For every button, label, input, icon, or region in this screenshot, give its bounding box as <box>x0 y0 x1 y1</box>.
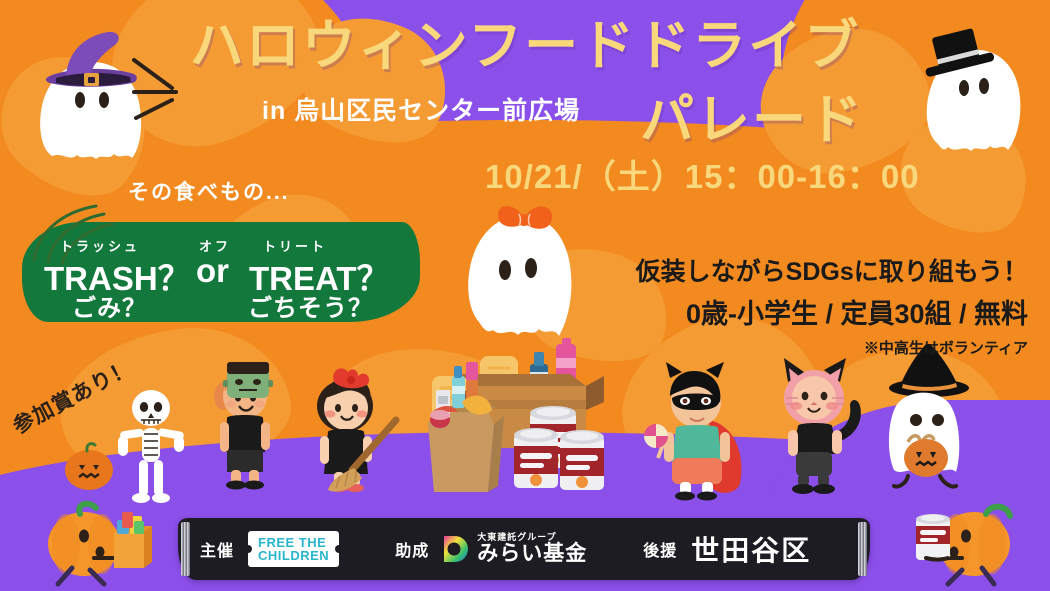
poster-title-line1: ハロウィンフードドライブ <box>0 18 1050 75</box>
ftc-line1: FREE THE <box>258 536 329 549</box>
event-details-block: 仮装しながらSDGsに取り組もう！ 0歳-小学生 / 定員30組 / 無料 ※中… <box>636 252 1028 358</box>
poster-title-line2: パレード <box>640 75 864 154</box>
donation-box-icon <box>418 338 638 498</box>
poster-canvas: ハロウィンフードドライブ in 烏山区民センター前広場 パレード 10/21/（… <box>0 0 1050 591</box>
kid-cat-costume-icon <box>768 348 886 498</box>
mirai-text: 大東建託グループ みらい基金 <box>477 533 587 564</box>
event-detail-line2: 0歳-小学生 / 定員30組 / 無料 <box>636 292 1028 331</box>
skeleton-icon <box>108 388 194 504</box>
venue-text: in 烏山区民センター前広場 <box>262 91 580 127</box>
setagaya-ward-name: 世田谷区 <box>691 529 811 569</box>
grant-label: 助成 <box>395 537 429 561</box>
banner-treat-jp: ごちそう？ <box>248 288 373 323</box>
mirai-fund-logo: 大東建託グループ みらい基金 <box>441 533 587 564</box>
walking-pumpkin-can-icon <box>900 506 1030 586</box>
event-detail-line1: 仮装しながらSDGsに取り組もう！ <box>636 252 1028 288</box>
mirai-fund-name: みらい基金 <box>477 543 587 565</box>
walking-pumpkin-snack-icon <box>36 506 166 586</box>
bar-end-right-icon <box>858 522 867 576</box>
banner-trash-jp: ごみ？ <box>72 288 147 323</box>
kid-bat-cape-icon <box>650 358 760 500</box>
mirai-mark-icon <box>441 534 471 564</box>
kid-witch-broom-icon <box>300 358 410 498</box>
sponsor-bar: 主催 FREE THE CHILDREN 助成 <box>178 518 870 580</box>
lead-line-text: その食べもの... <box>128 176 290 206</box>
title-subrow: in 烏山区民センター前広場 パレード <box>0 77 1050 135</box>
banner-or-en: or <box>196 252 229 290</box>
event-detail-line3: ※中高生はボランティア <box>636 337 1028 358</box>
headline-block: ハロウィンフードドライブ in 烏山区民センター前広場 パレード <box>0 18 1050 135</box>
event-datetime: 10/21/（土）15：00-16：00 <box>485 150 920 198</box>
ghost-pumpkin-basket-icon <box>872 340 984 492</box>
organizer-label: 主催 <box>200 537 234 561</box>
bar-end-left-icon <box>181 522 190 576</box>
support-label: 後援 <box>643 537 677 561</box>
ftc-line2: CHILDREN <box>258 549 329 562</box>
free-the-children-logo: FREE THE CHILDREN <box>248 531 339 568</box>
ghost-bow-icon <box>455 196 585 346</box>
kid-frankenstein-icon <box>205 348 287 490</box>
